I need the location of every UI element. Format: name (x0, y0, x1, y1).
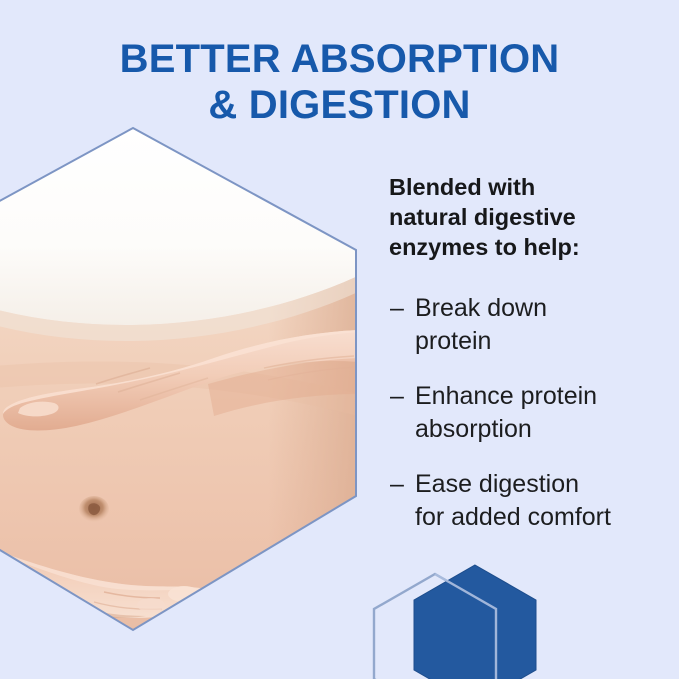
bullet-dash-icon: – (390, 468, 404, 501)
hexagon-pair-logo (372, 548, 572, 679)
hero-photo-svg (0, 126, 358, 632)
copy-heading-line-1: Blended with (389, 172, 667, 202)
list-item-line-2: absorption (415, 413, 667, 446)
solid-hexagon-icon (414, 565, 536, 679)
bullet-dash-icon: – (390, 292, 404, 325)
infographic-canvas: BETTER ABSORPTION & DIGESTION Blended wi… (0, 0, 679, 679)
headline-line-1: BETTER ABSORPTION (0, 36, 679, 82)
list-item-line-2: protein (415, 325, 667, 358)
list-item-line-1: Break down (415, 292, 667, 325)
list-item-line-1: Ease digestion (415, 468, 667, 501)
benefit-list: – Break down protein – Enhance protein a… (389, 292, 667, 534)
hero-photo-hexagon (0, 126, 358, 632)
list-item-line-2: for added comfort (415, 501, 667, 534)
headline: BETTER ABSORPTION & DIGESTION (0, 36, 679, 128)
hexagon-pair-logo-svg (372, 548, 572, 679)
copy-heading-line-2: natural digestive (389, 202, 667, 232)
bullet-dash-icon: – (390, 380, 404, 413)
list-item-text: Enhance protein absorption (415, 380, 667, 446)
list-item: – Break down protein (389, 292, 667, 358)
list-item: – Enhance protein absorption (389, 380, 667, 446)
copy-heading-line-3: enzymes to help: (389, 232, 667, 262)
copy-heading: Blended with natural digestive enzymes t… (389, 172, 667, 262)
list-item-line-1: Enhance protein (415, 380, 667, 413)
list-item-text: Break down protein (415, 292, 667, 358)
list-item: – Ease digestion for added comfort (389, 468, 667, 534)
headline-line-2: & DIGESTION (0, 82, 679, 128)
list-item-text: Ease digestion for added comfort (415, 468, 667, 534)
copy-column: Blended with natural digestive enzymes t… (389, 172, 667, 534)
